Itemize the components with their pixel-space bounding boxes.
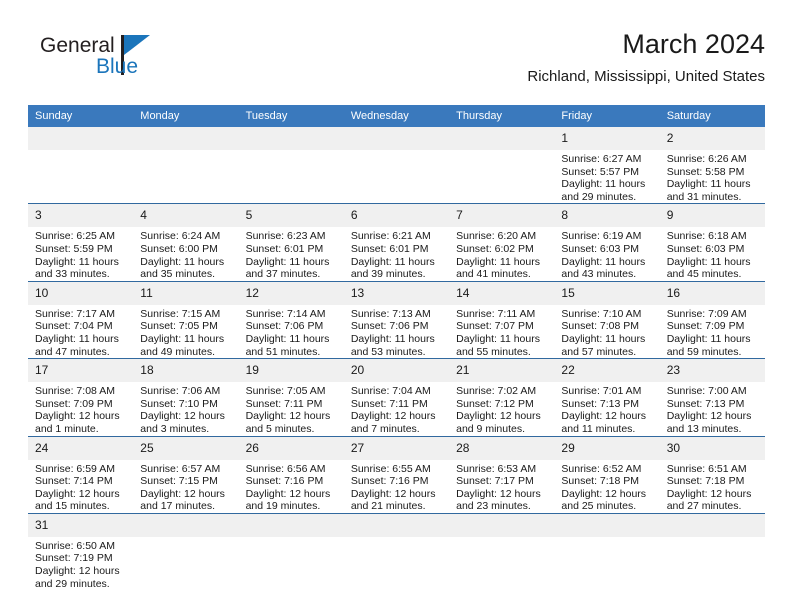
sunset-text: Sunset: 7:09 PM — [667, 320, 759, 333]
day-number: 1 — [554, 127, 659, 150]
day-number: 20 — [344, 359, 449, 382]
daylight-text: Daylight: 11 hours and 53 minutes. — [351, 333, 443, 358]
daylight-text: Daylight: 11 hours and 59 minutes. — [667, 333, 759, 358]
sunset-text: Sunset: 5:59 PM — [35, 243, 127, 256]
daylight-text: Daylight: 12 hours and 19 minutes. — [246, 488, 338, 513]
day-sun-info: Sunrise: 6:19 AMSunset: 6:03 PMDaylight:… — [554, 227, 659, 280]
day-number — [28, 127, 133, 150]
sunset-text: Sunset: 7:11 PM — [246, 398, 338, 411]
day-number: 3 — [28, 204, 133, 227]
sunrise-text: Sunrise: 6:20 AM — [456, 230, 548, 243]
day-number: 6 — [344, 204, 449, 227]
daylight-text: Daylight: 11 hours and 29 minutes. — [561, 178, 653, 203]
day-sun-info: Sunrise: 7:13 AMSunset: 7:06 PMDaylight:… — [344, 305, 449, 358]
calendar-cell-empty — [344, 513, 449, 590]
daylight-text: Daylight: 11 hours and 31 minutes. — [667, 178, 759, 203]
day-sun-info: Sunrise: 6:25 AMSunset: 5:59 PMDaylight:… — [28, 227, 133, 280]
calendar-week-row: 10Sunrise: 7:17 AMSunset: 7:04 PMDayligh… — [28, 281, 765, 358]
day-cell-inner — [133, 127, 238, 203]
sunrise-text: Sunrise: 7:05 AM — [246, 385, 338, 398]
day-cell-inner: 31Sunrise: 6:50 AMSunset: 7:19 PMDayligh… — [28, 514, 133, 590]
sunrise-text: Sunrise: 6:56 AM — [246, 463, 338, 476]
day-number: 27 — [344, 437, 449, 460]
day-sun-info: Sunrise: 6:21 AMSunset: 6:01 PMDaylight:… — [344, 227, 449, 280]
daylight-text: Daylight: 11 hours and 51 minutes. — [246, 333, 338, 358]
daylight-text: Daylight: 12 hours and 29 minutes. — [35, 565, 127, 590]
sunrise-text: Sunrise: 6:21 AM — [351, 230, 443, 243]
sunrise-text: Sunrise: 6:59 AM — [35, 463, 127, 476]
calendar-day-cell[interactable]: 29Sunrise: 6:52 AMSunset: 7:18 PMDayligh… — [554, 436, 659, 513]
daylight-text: Daylight: 11 hours and 33 minutes. — [35, 256, 127, 281]
day-sun-info: Sunrise: 7:08 AMSunset: 7:09 PMDaylight:… — [28, 382, 133, 435]
calendar-cell-empty — [133, 127, 238, 204]
sunset-text: Sunset: 6:01 PM — [351, 243, 443, 256]
calendar-cell-empty — [449, 513, 554, 590]
sunrise-text: Sunrise: 7:04 AM — [351, 385, 443, 398]
calendar-body: 1Sunrise: 6:27 AMSunset: 5:57 PMDaylight… — [28, 127, 765, 590]
calendar-day-cell[interactable]: 20Sunrise: 7:04 AMSunset: 7:11 PMDayligh… — [344, 359, 449, 436]
calendar-day-cell[interactable]: 13Sunrise: 7:13 AMSunset: 7:06 PMDayligh… — [344, 281, 449, 358]
sunset-text: Sunset: 7:11 PM — [351, 398, 443, 411]
day-number: 14 — [449, 282, 554, 305]
calendar-day-cell[interactable]: 9Sunrise: 6:18 AMSunset: 6:03 PMDaylight… — [660, 204, 765, 281]
day-number: 25 — [133, 437, 238, 460]
weekday-header-saturday: Saturday — [660, 105, 765, 127]
day-cell-inner: 30Sunrise: 6:51 AMSunset: 7:18 PMDayligh… — [660, 437, 765, 513]
sunset-text: Sunset: 7:06 PM — [351, 320, 443, 333]
calendar-week-row: 24Sunrise: 6:59 AMSunset: 7:14 PMDayligh… — [28, 436, 765, 513]
day-sun-info: Sunrise: 7:06 AMSunset: 7:10 PMDaylight:… — [133, 382, 238, 435]
calendar-day-cell[interactable]: 27Sunrise: 6:55 AMSunset: 7:16 PMDayligh… — [344, 436, 449, 513]
daylight-text: Daylight: 11 hours and 49 minutes. — [140, 333, 232, 358]
daylight-text: Daylight: 11 hours and 41 minutes. — [456, 256, 548, 281]
general-blue-logo[interactable]: General Blue — [40, 34, 190, 90]
day-number: 28 — [449, 437, 554, 460]
page-subtitle: Richland, Mississippi, United States — [527, 67, 765, 87]
sunset-text: Sunset: 7:15 PM — [140, 475, 232, 488]
day-cell-inner: 1Sunrise: 6:27 AMSunset: 5:57 PMDaylight… — [554, 127, 659, 203]
day-sun-info: Sunrise: 6:20 AMSunset: 6:02 PMDaylight:… — [449, 227, 554, 280]
day-number — [133, 514, 238, 537]
day-number: 10 — [28, 282, 133, 305]
daylight-text: Daylight: 12 hours and 21 minutes. — [351, 488, 443, 513]
day-cell-inner — [449, 127, 554, 203]
day-number — [239, 514, 344, 537]
sunrise-text: Sunrise: 6:55 AM — [351, 463, 443, 476]
daylight-text: Daylight: 11 hours and 35 minutes. — [140, 256, 232, 281]
sunset-text: Sunset: 6:00 PM — [140, 243, 232, 256]
sunrise-text: Sunrise: 6:27 AM — [561, 153, 653, 166]
sunset-text: Sunset: 7:13 PM — [667, 398, 759, 411]
daylight-text: Daylight: 12 hours and 27 minutes. — [667, 488, 759, 513]
day-sun-info: Sunrise: 6:24 AMSunset: 6:00 PMDaylight:… — [133, 227, 238, 280]
calendar-day-cell[interactable]: 19Sunrise: 7:05 AMSunset: 7:11 PMDayligh… — [239, 359, 344, 436]
day-cell-inner — [660, 514, 765, 590]
sunset-text: Sunset: 7:04 PM — [35, 320, 127, 333]
sunset-text: Sunset: 7:19 PM — [35, 552, 127, 565]
day-sun-info: Sunrise: 7:04 AMSunset: 7:11 PMDaylight:… — [344, 382, 449, 435]
calendar-day-cell[interactable]: 18Sunrise: 7:06 AMSunset: 7:10 PMDayligh… — [133, 359, 238, 436]
calendar-day-cell[interactable]: 10Sunrise: 7:17 AMSunset: 7:04 PMDayligh… — [28, 281, 133, 358]
day-cell-inner: 7Sunrise: 6:20 AMSunset: 6:02 PMDaylight… — [449, 204, 554, 280]
day-sun-info: Sunrise: 7:17 AMSunset: 7:04 PMDaylight:… — [28, 305, 133, 358]
daylight-text: Daylight: 12 hours and 23 minutes. — [456, 488, 548, 513]
sunrise-text: Sunrise: 6:53 AM — [456, 463, 548, 476]
sunrise-text: Sunrise: 6:52 AM — [561, 463, 653, 476]
day-sun-info: Sunrise: 7:02 AMSunset: 7:12 PMDaylight:… — [449, 382, 554, 435]
weekday-header-friday: Friday — [554, 105, 659, 127]
title-block: March 2024 Richland, Mississippi, United… — [527, 28, 765, 87]
sunrise-text: Sunrise: 7:01 AM — [561, 385, 653, 398]
weekday-header-wednesday: Wednesday — [344, 105, 449, 127]
day-cell-inner: 3Sunrise: 6:25 AMSunset: 5:59 PMDaylight… — [28, 204, 133, 280]
logo-text-general: General — [40, 34, 115, 57]
calendar-cell-empty — [133, 513, 238, 590]
daylight-text: Daylight: 11 hours and 55 minutes. — [456, 333, 548, 358]
day-number: 31 — [28, 514, 133, 537]
weekday-header-monday: Monday — [133, 105, 238, 127]
day-sun-info: Sunrise: 7:09 AMSunset: 7:09 PMDaylight:… — [660, 305, 765, 358]
day-cell-inner: 2Sunrise: 6:26 AMSunset: 5:58 PMDaylight… — [660, 127, 765, 203]
calendar-day-cell[interactable]: 26Sunrise: 6:56 AMSunset: 7:16 PMDayligh… — [239, 436, 344, 513]
sunrise-text: Sunrise: 7:00 AM — [667, 385, 759, 398]
day-cell-inner — [133, 514, 238, 590]
logo-text-blue: Blue — [96, 55, 138, 78]
sunset-text: Sunset: 7:17 PM — [456, 475, 548, 488]
day-cell-inner: 5Sunrise: 6:23 AMSunset: 6:01 PMDaylight… — [239, 204, 344, 280]
sunrise-text: Sunrise: 7:17 AM — [35, 308, 127, 321]
calendar-cell-empty — [239, 513, 344, 590]
day-number: 18 — [133, 359, 238, 382]
sunrise-text: Sunrise: 7:02 AM — [456, 385, 548, 398]
sunrise-text: Sunrise: 7:06 AM — [140, 385, 232, 398]
sunrise-text: Sunrise: 7:13 AM — [351, 308, 443, 321]
day-number: 2 — [660, 127, 765, 150]
daylight-text: Daylight: 12 hours and 13 minutes. — [667, 410, 759, 435]
sunrise-text: Sunrise: 7:14 AM — [246, 308, 338, 321]
sunset-text: Sunset: 7:06 PM — [246, 320, 338, 333]
calendar-week-row: 3Sunrise: 6:25 AMSunset: 5:59 PMDaylight… — [28, 204, 765, 281]
day-sun-info: Sunrise: 6:52 AMSunset: 7:18 PMDaylight:… — [554, 460, 659, 513]
calendar-day-cell[interactable]: 3Sunrise: 6:25 AMSunset: 5:59 PMDaylight… — [28, 204, 133, 281]
weekday-header-sunday: Sunday — [28, 105, 133, 127]
sunrise-text: Sunrise: 6:26 AM — [667, 153, 759, 166]
day-number: 9 — [660, 204, 765, 227]
day-number — [133, 127, 238, 150]
daylight-text: Daylight: 12 hours and 11 minutes. — [561, 410, 653, 435]
daylight-text: Daylight: 12 hours and 15 minutes. — [35, 488, 127, 513]
day-number — [449, 127, 554, 150]
calendar-header-row: SundayMondayTuesdayWednesdayThursdayFrid… — [28, 105, 765, 127]
daylight-text: Daylight: 12 hours and 25 minutes. — [561, 488, 653, 513]
day-cell-inner: 26Sunrise: 6:56 AMSunset: 7:16 PMDayligh… — [239, 437, 344, 513]
sunrise-text: Sunrise: 6:19 AM — [561, 230, 653, 243]
calendar-page: General Blue March 2024 Richland, Missis… — [0, 0, 792, 612]
daylight-text: Daylight: 12 hours and 9 minutes. — [456, 410, 548, 435]
sunrise-text: Sunrise: 7:11 AM — [456, 308, 548, 321]
calendar-table: SundayMondayTuesdayWednesdayThursdayFrid… — [28, 105, 765, 590]
flag-triangle-icon — [124, 35, 150, 55]
day-number — [449, 514, 554, 537]
sunrise-text: Sunrise: 6:23 AM — [246, 230, 338, 243]
day-cell-inner: 23Sunrise: 7:00 AMSunset: 7:13 PMDayligh… — [660, 359, 765, 435]
day-sun-info: Sunrise: 6:55 AMSunset: 7:16 PMDaylight:… — [344, 460, 449, 513]
day-number: 24 — [28, 437, 133, 460]
daylight-text: Daylight: 11 hours and 39 minutes. — [351, 256, 443, 281]
day-cell-inner — [449, 514, 554, 590]
sunset-text: Sunset: 7:16 PM — [246, 475, 338, 488]
daylight-text: Daylight: 12 hours and 3 minutes. — [140, 410, 232, 435]
day-cell-inner: 12Sunrise: 7:14 AMSunset: 7:06 PMDayligh… — [239, 282, 344, 358]
calendar-day-cell[interactable]: 5Sunrise: 6:23 AMSunset: 6:01 PMDaylight… — [239, 204, 344, 281]
day-cell-inner: 22Sunrise: 7:01 AMSunset: 7:13 PMDayligh… — [554, 359, 659, 435]
calendar-day-cell[interactable]: 30Sunrise: 6:51 AMSunset: 7:18 PMDayligh… — [660, 436, 765, 513]
day-sun-info: Sunrise: 7:14 AMSunset: 7:06 PMDaylight:… — [239, 305, 344, 358]
day-number — [344, 127, 449, 150]
daylight-text: Daylight: 11 hours and 43 minutes. — [561, 256, 653, 281]
calendar-day-cell[interactable]: 15Sunrise: 7:10 AMSunset: 7:08 PMDayligh… — [554, 281, 659, 358]
day-number: 23 — [660, 359, 765, 382]
day-sun-info: Sunrise: 6:50 AMSunset: 7:19 PMDaylight:… — [28, 537, 133, 590]
day-cell-inner: 16Sunrise: 7:09 AMSunset: 7:09 PMDayligh… — [660, 282, 765, 358]
calendar-day-cell[interactable]: 2Sunrise: 6:26 AMSunset: 5:58 PMDaylight… — [660, 127, 765, 204]
calendar-day-cell[interactable]: 11Sunrise: 7:15 AMSunset: 7:05 PMDayligh… — [133, 281, 238, 358]
calendar-day-cell[interactable]: 4Sunrise: 6:24 AMSunset: 6:00 PMDaylight… — [133, 204, 238, 281]
sunrise-text: Sunrise: 7:09 AM — [667, 308, 759, 321]
sunset-text: Sunset: 7:05 PM — [140, 320, 232, 333]
day-cell-inner: 8Sunrise: 6:19 AMSunset: 6:03 PMDaylight… — [554, 204, 659, 280]
day-cell-inner: 11Sunrise: 7:15 AMSunset: 7:05 PMDayligh… — [133, 282, 238, 358]
day-number: 22 — [554, 359, 659, 382]
calendar-day-cell[interactable]: 16Sunrise: 7:09 AMSunset: 7:09 PMDayligh… — [660, 281, 765, 358]
calendar-day-cell[interactable]: 8Sunrise: 6:19 AMSunset: 6:03 PMDaylight… — [554, 204, 659, 281]
calendar-cell-empty — [449, 127, 554, 204]
day-number — [554, 514, 659, 537]
day-number: 30 — [660, 437, 765, 460]
calendar-day-cell[interactable]: 28Sunrise: 6:53 AMSunset: 7:17 PMDayligh… — [449, 436, 554, 513]
day-sun-info: Sunrise: 7:15 AMSunset: 7:05 PMDaylight:… — [133, 305, 238, 358]
day-cell-inner — [554, 514, 659, 590]
day-sun-info: Sunrise: 6:23 AMSunset: 6:01 PMDaylight:… — [239, 227, 344, 280]
day-number: 19 — [239, 359, 344, 382]
sunset-text: Sunset: 7:08 PM — [561, 320, 653, 333]
day-cell-inner: 20Sunrise: 7:04 AMSunset: 7:11 PMDayligh… — [344, 359, 449, 435]
day-cell-inner: 13Sunrise: 7:13 AMSunset: 7:06 PMDayligh… — [344, 282, 449, 358]
day-cell-inner: 29Sunrise: 6:52 AMSunset: 7:18 PMDayligh… — [554, 437, 659, 513]
sunset-text: Sunset: 5:57 PM — [561, 166, 653, 179]
sunrise-text: Sunrise: 6:18 AM — [667, 230, 759, 243]
sunrise-text: Sunrise: 6:57 AM — [140, 463, 232, 476]
calendar-week-row: 31Sunrise: 6:50 AMSunset: 7:19 PMDayligh… — [28, 513, 765, 590]
weekday-header-thursday: Thursday — [449, 105, 554, 127]
sunset-text: Sunset: 7:09 PM — [35, 398, 127, 411]
day-sun-info: Sunrise: 7:01 AMSunset: 7:13 PMDaylight:… — [554, 382, 659, 435]
weekday-header-tuesday: Tuesday — [239, 105, 344, 127]
day-cell-inner: 24Sunrise: 6:59 AMSunset: 7:14 PMDayligh… — [28, 437, 133, 513]
calendar-cell-empty — [28, 127, 133, 204]
day-number: 7 — [449, 204, 554, 227]
day-sun-info: Sunrise: 6:18 AMSunset: 6:03 PMDaylight:… — [660, 227, 765, 280]
calendar-day-cell[interactable]: 17Sunrise: 7:08 AMSunset: 7:09 PMDayligh… — [28, 359, 133, 436]
day-number: 12 — [239, 282, 344, 305]
sunset-text: Sunset: 6:01 PM — [246, 243, 338, 256]
day-cell-inner: 6Sunrise: 6:21 AMSunset: 6:01 PMDaylight… — [344, 204, 449, 280]
day-number: 13 — [344, 282, 449, 305]
day-cell-inner: 27Sunrise: 6:55 AMSunset: 7:16 PMDayligh… — [344, 437, 449, 513]
calendar-day-cell[interactable]: 21Sunrise: 7:02 AMSunset: 7:12 PMDayligh… — [449, 359, 554, 436]
sunset-text: Sunset: 6:03 PM — [561, 243, 653, 256]
day-sun-info: Sunrise: 6:27 AMSunset: 5:57 PMDaylight:… — [554, 150, 659, 203]
daylight-text: Daylight: 11 hours and 47 minutes. — [35, 333, 127, 358]
day-cell-inner — [344, 127, 449, 203]
sunset-text: Sunset: 6:02 PM — [456, 243, 548, 256]
day-cell-inner: 21Sunrise: 7:02 AMSunset: 7:12 PMDayligh… — [449, 359, 554, 435]
daylight-text: Daylight: 11 hours and 45 minutes. — [667, 256, 759, 281]
sunset-text: Sunset: 7:14 PM — [35, 475, 127, 488]
sunset-text: Sunset: 7:12 PM — [456, 398, 548, 411]
calendar-day-cell[interactable]: 6Sunrise: 6:21 AMSunset: 6:01 PMDaylight… — [344, 204, 449, 281]
day-sun-info: Sunrise: 7:00 AMSunset: 7:13 PMDaylight:… — [660, 382, 765, 435]
day-number — [660, 514, 765, 537]
day-number: 26 — [239, 437, 344, 460]
calendar-cell-empty — [554, 513, 659, 590]
page-title: March 2024 — [527, 28, 765, 60]
sunset-text: Sunset: 5:58 PM — [667, 166, 759, 179]
day-number — [239, 127, 344, 150]
day-number — [344, 514, 449, 537]
day-sun-info: Sunrise: 7:11 AMSunset: 7:07 PMDaylight:… — [449, 305, 554, 358]
day-cell-inner: 28Sunrise: 6:53 AMSunset: 7:17 PMDayligh… — [449, 437, 554, 513]
daylight-text: Daylight: 12 hours and 7 minutes. — [351, 410, 443, 435]
sunrise-text: Sunrise: 6:24 AM — [140, 230, 232, 243]
sunset-text: Sunset: 7:18 PM — [561, 475, 653, 488]
day-sun-info: Sunrise: 6:26 AMSunset: 5:58 PMDaylight:… — [660, 150, 765, 203]
sunrise-text: Sunrise: 7:10 AM — [561, 308, 653, 321]
sunrise-text: Sunrise: 6:51 AM — [667, 463, 759, 476]
sunrise-text: Sunrise: 7:15 AM — [140, 308, 232, 321]
daylight-text: Daylight: 12 hours and 17 minutes. — [140, 488, 232, 513]
day-cell-inner: 25Sunrise: 6:57 AMSunset: 7:15 PMDayligh… — [133, 437, 238, 513]
sunset-text: Sunset: 7:13 PM — [561, 398, 653, 411]
day-cell-inner: 14Sunrise: 7:11 AMSunset: 7:07 PMDayligh… — [449, 282, 554, 358]
sunrise-text: Sunrise: 7:08 AM — [35, 385, 127, 398]
day-number: 17 — [28, 359, 133, 382]
daylight-text: Daylight: 12 hours and 1 minute. — [35, 410, 127, 435]
calendar-week-row: 1Sunrise: 6:27 AMSunset: 5:57 PMDaylight… — [28, 127, 765, 204]
day-cell-inner: 18Sunrise: 7:06 AMSunset: 7:10 PMDayligh… — [133, 359, 238, 435]
calendar-day-cell[interactable]: 14Sunrise: 7:11 AMSunset: 7:07 PMDayligh… — [449, 281, 554, 358]
day-number: 29 — [554, 437, 659, 460]
day-number: 16 — [660, 282, 765, 305]
calendar-cell-empty — [660, 513, 765, 590]
calendar-cell-empty — [239, 127, 344, 204]
day-cell-inner: 17Sunrise: 7:08 AMSunset: 7:09 PMDayligh… — [28, 359, 133, 435]
day-sun-info: Sunrise: 6:56 AMSunset: 7:16 PMDaylight:… — [239, 460, 344, 513]
sunset-text: Sunset: 7:10 PM — [140, 398, 232, 411]
sunrise-text: Sunrise: 6:25 AM — [35, 230, 127, 243]
day-cell-inner: 10Sunrise: 7:17 AMSunset: 7:04 PMDayligh… — [28, 282, 133, 358]
sunrise-text: Sunrise: 6:50 AM — [35, 540, 127, 553]
sunset-text: Sunset: 6:03 PM — [667, 243, 759, 256]
calendar-day-cell[interactable]: 12Sunrise: 7:14 AMSunset: 7:06 PMDayligh… — [239, 281, 344, 358]
calendar-day-cell[interactable]: 31Sunrise: 6:50 AMSunset: 7:19 PMDayligh… — [28, 513, 133, 590]
day-cell-inner — [239, 127, 344, 203]
calendar-cell-empty — [344, 127, 449, 204]
day-sun-info: Sunrise: 6:53 AMSunset: 7:17 PMDaylight:… — [449, 460, 554, 513]
day-cell-inner — [344, 514, 449, 590]
day-sun-info: Sunrise: 6:51 AMSunset: 7:18 PMDaylight:… — [660, 460, 765, 513]
day-cell-inner — [239, 514, 344, 590]
calendar-day-cell[interactable]: 23Sunrise: 7:00 AMSunset: 7:13 PMDayligh… — [660, 359, 765, 436]
day-cell-inner: 19Sunrise: 7:05 AMSunset: 7:11 PMDayligh… — [239, 359, 344, 435]
day-number: 21 — [449, 359, 554, 382]
day-sun-info: Sunrise: 6:59 AMSunset: 7:14 PMDaylight:… — [28, 460, 133, 513]
calendar-day-cell[interactable]: 1Sunrise: 6:27 AMSunset: 5:57 PMDaylight… — [554, 127, 659, 204]
day-number: 4 — [133, 204, 238, 227]
sunset-text: Sunset: 7:16 PM — [351, 475, 443, 488]
day-number: 5 — [239, 204, 344, 227]
day-cell-inner: 4Sunrise: 6:24 AMSunset: 6:00 PMDaylight… — [133, 204, 238, 280]
day-sun-info: Sunrise: 7:05 AMSunset: 7:11 PMDaylight:… — [239, 382, 344, 435]
daylight-text: Daylight: 11 hours and 57 minutes. — [561, 333, 653, 358]
calendar-day-cell[interactable]: 24Sunrise: 6:59 AMSunset: 7:14 PMDayligh… — [28, 436, 133, 513]
day-sun-info: Sunrise: 7:10 AMSunset: 7:08 PMDaylight:… — [554, 305, 659, 358]
calendar-week-row: 17Sunrise: 7:08 AMSunset: 7:09 PMDayligh… — [28, 359, 765, 436]
day-number: 15 — [554, 282, 659, 305]
day-cell-inner: 15Sunrise: 7:10 AMSunset: 7:08 PMDayligh… — [554, 282, 659, 358]
day-cell-inner — [28, 127, 133, 203]
page-header: General Blue March 2024 Richland, Missis… — [28, 28, 765, 98]
calendar-day-cell[interactable]: 25Sunrise: 6:57 AMSunset: 7:15 PMDayligh… — [133, 436, 238, 513]
day-cell-inner: 9Sunrise: 6:18 AMSunset: 6:03 PMDaylight… — [660, 204, 765, 280]
sunset-text: Sunset: 7:18 PM — [667, 475, 759, 488]
day-number: 11 — [133, 282, 238, 305]
daylight-text: Daylight: 12 hours and 5 minutes. — [246, 410, 338, 435]
sunset-text: Sunset: 7:07 PM — [456, 320, 548, 333]
calendar-day-cell[interactable]: 7Sunrise: 6:20 AMSunset: 6:02 PMDaylight… — [449, 204, 554, 281]
calendar-day-cell[interactable]: 22Sunrise: 7:01 AMSunset: 7:13 PMDayligh… — [554, 359, 659, 436]
daylight-text: Daylight: 11 hours and 37 minutes. — [246, 256, 338, 281]
day-sun-info: Sunrise: 6:57 AMSunset: 7:15 PMDaylight:… — [133, 460, 238, 513]
day-number: 8 — [554, 204, 659, 227]
